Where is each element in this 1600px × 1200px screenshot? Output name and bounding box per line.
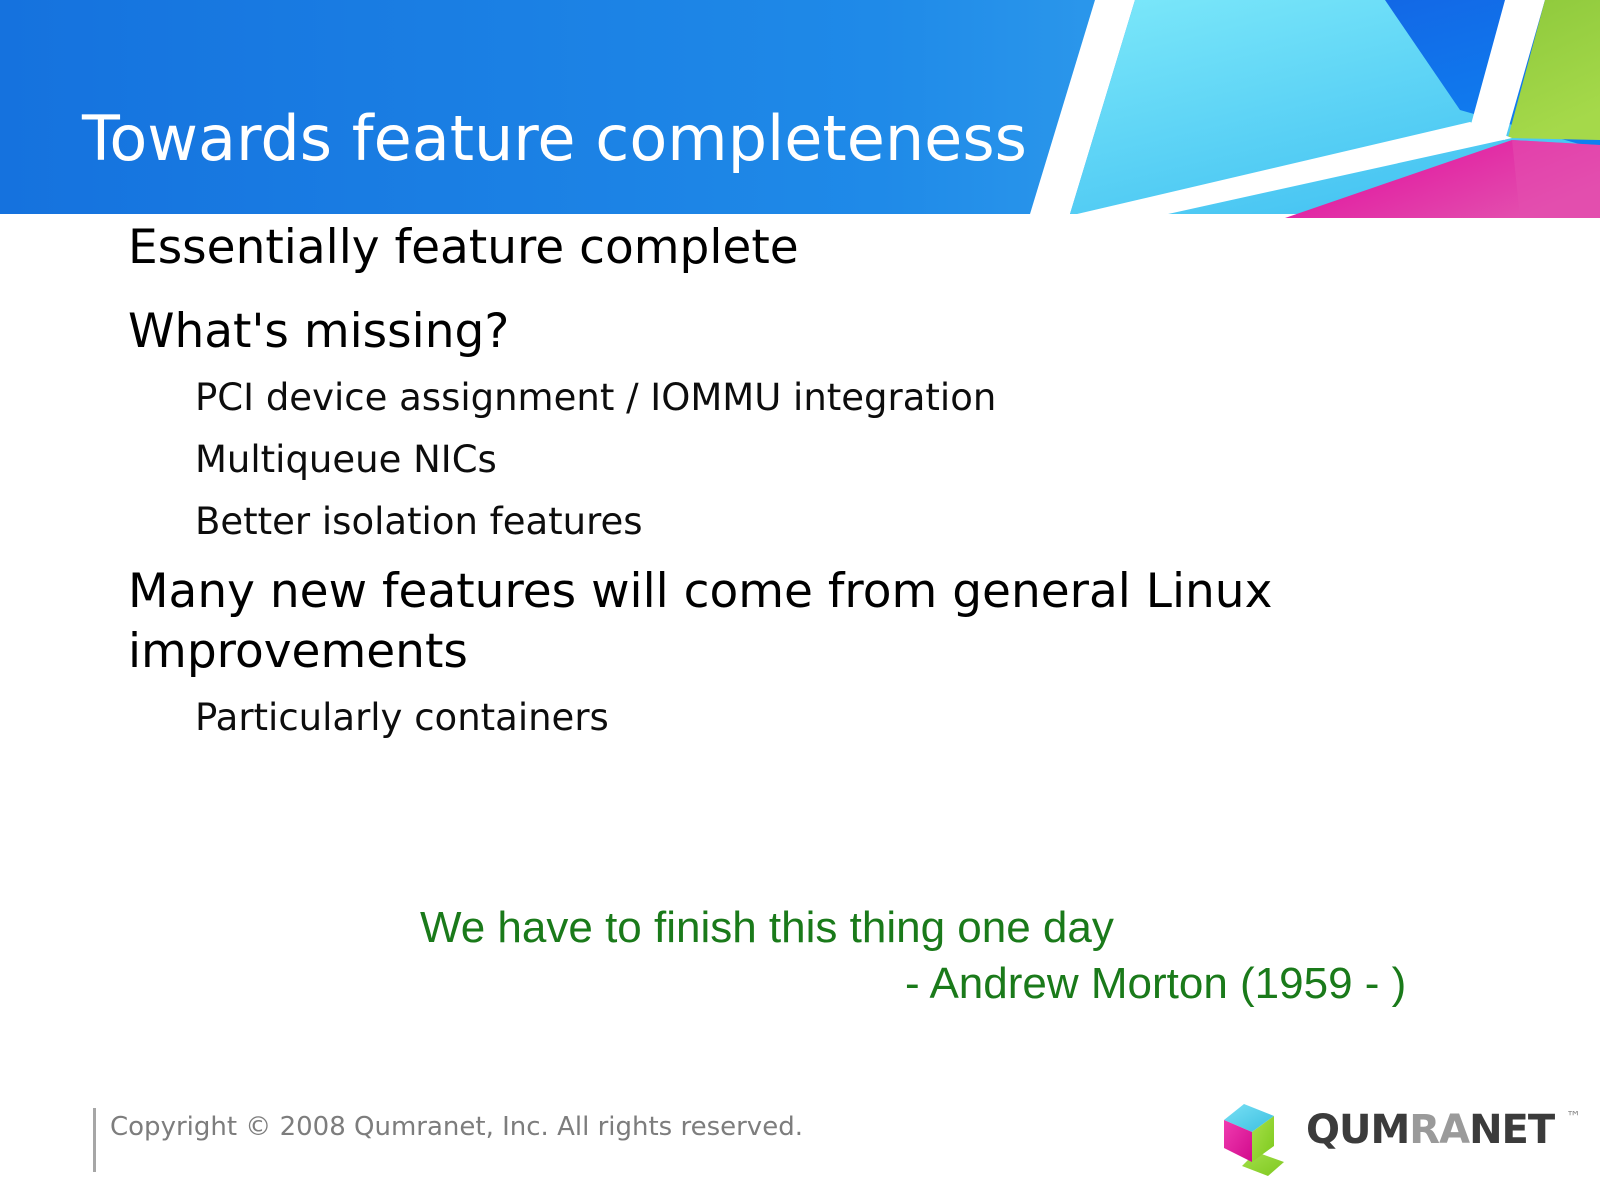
logo-word-part2: RA: [1409, 1107, 1469, 1153]
bullet-level1: Essentially feature complete: [0, 218, 1528, 278]
footer-divider-rule: [93, 1108, 96, 1172]
bullet-level2: Better isolation features: [0, 496, 1600, 548]
bullet-text: Multiqueue NICs: [195, 438, 497, 481]
diamond-bullet-icon: [144, 390, 161, 407]
bullet-text: Better isolation features: [195, 500, 643, 543]
slide-header-banner: Towards feature completeness: [0, 0, 1600, 218]
bullet-level2: Multiqueue NICs: [0, 434, 1600, 486]
sub-bullet-list: Particularly containers: [0, 692, 1600, 744]
bullet-text: PCI device assignment / IOMMU integratio…: [195, 376, 996, 419]
bullet-level1: What's missing?: [0, 302, 1528, 362]
sub-bullet-list: PCI device assignment / IOMMU integratio…: [0, 372, 1600, 548]
bullet-level2: PCI device assignment / IOMMU integratio…: [0, 372, 1600, 424]
bullet-list: Essentially feature complete What's miss…: [0, 218, 1600, 744]
diamond-bullet-icon: [76, 321, 98, 343]
logo-word-part1: QUM: [1306, 1107, 1409, 1153]
bullet-level1: Many new features will come from general…: [0, 562, 1528, 682]
diamond-bullet-icon: [144, 514, 161, 531]
diamond-bullet-icon: [76, 581, 98, 603]
quote-block: We have to finish this thing one day - A…: [0, 900, 1600, 1012]
bullet-text: Many new features will come from general…: [128, 564, 1272, 679]
logo-wordmark: QUMRANET: [1306, 1108, 1554, 1152]
diamond-bullet-icon: [76, 237, 98, 259]
quote-text: We have to finish this thing one day: [0, 900, 1600, 956]
bullet-level2: Particularly containers: [0, 692, 1600, 744]
quote-attribution: - Andrew Morton (1959 - ): [0, 956, 1600, 1012]
copyright-text: Copyright © 2008 Qumranet, Inc. All righ…: [110, 1110, 803, 1144]
logo-word-part3: NET: [1469, 1107, 1554, 1153]
bullet-text: Particularly containers: [195, 696, 609, 739]
page-title: Towards feature completeness: [82, 103, 1027, 175]
trademark-symbol: ™: [1566, 1108, 1581, 1126]
diamond-bullet-icon: [144, 452, 161, 469]
bullet-text: Essentially feature complete: [128, 220, 799, 275]
cube-logo-icon: [1208, 1094, 1300, 1180]
diamond-bullet-icon: [144, 710, 161, 727]
bullet-text: What's missing?: [128, 304, 509, 359]
qumranet-logo: QUMRANET ™: [1208, 1094, 1580, 1180]
slide-root: Towards feature completeness Essentially…: [0, 0, 1600, 1200]
